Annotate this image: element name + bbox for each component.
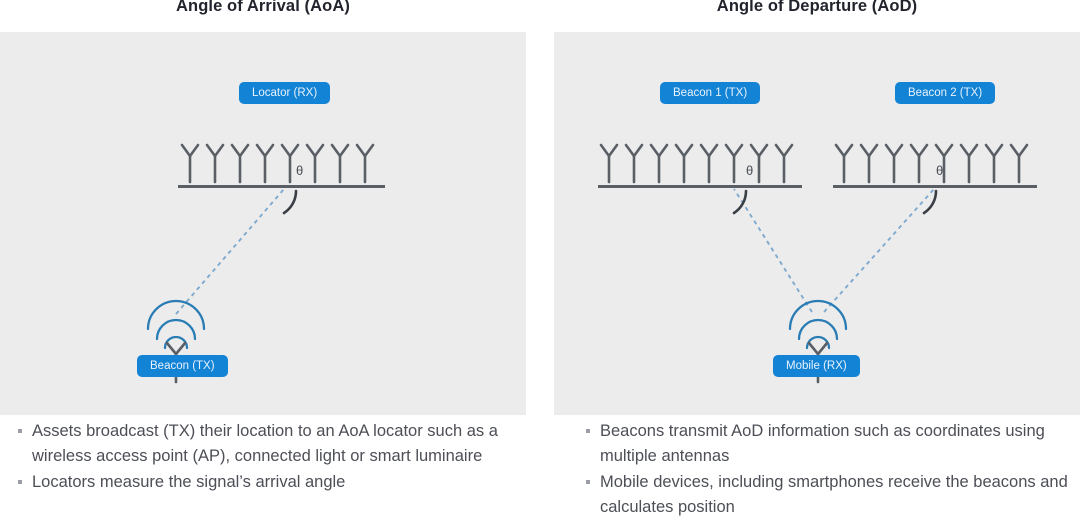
list-item: Beacons transmit AoD information such as…	[582, 419, 1080, 469]
signal-waves-mobile	[790, 301, 846, 348]
signal-rays-aod	[734, 189, 934, 312]
angle-arc-beacon-1	[734, 191, 746, 213]
bullet-marker-icon	[586, 480, 590, 484]
antenna-array-beacon-1	[601, 145, 792, 182]
list-item-text: Assets broadcast (TX) their location to …	[32, 422, 498, 465]
list-item-text: Mobile devices, including smartphones re…	[600, 473, 1068, 516]
panel-title-aod: Angle of Departure (AoD)	[554, 0, 1080, 16]
list-item: Locators measure the signal’s arrival an…	[14, 470, 514, 495]
bullet-marker-icon	[586, 429, 590, 433]
badge-beacon-tx[interactable]: Beacon (TX)	[137, 355, 228, 377]
angle-label-theta-beacon-2: θ	[936, 163, 943, 178]
badge-beacon-2-tx[interactable]: Beacon 2 (TX)	[895, 82, 995, 104]
bullet-list-aod: Beacons transmit AoD information such as…	[554, 419, 1080, 521]
angle-label-theta-beacon-1: θ	[746, 163, 753, 178]
antenna-array-beacon-2	[836, 145, 1027, 182]
comparison-figure: Angle of Arrival (AoA)	[0, 0, 1080, 528]
signal-ray-aoa	[176, 189, 284, 314]
angle-arc-aoa	[284, 191, 296, 213]
list-item: Mobile devices, including smartphones re…	[582, 470, 1080, 520]
list-item-text: Beacons transmit AoD information such as…	[600, 422, 1045, 465]
bullet-marker-icon	[18, 480, 22, 484]
signal-waves-beacon	[148, 301, 204, 348]
bullet-list-aoa: Assets broadcast (TX) their location to …	[0, 419, 526, 496]
diagram-aoa: Locator (RX) θ Beacon (TX)	[0, 32, 526, 415]
badge-beacon-1-tx[interactable]: Beacon 1 (TX)	[660, 82, 760, 104]
bullet-marker-icon	[18, 429, 22, 433]
angle-label-theta-aoa: θ	[296, 163, 303, 178]
list-item: Assets broadcast (TX) their location to …	[14, 419, 514, 469]
badge-mobile-rx[interactable]: Mobile (RX)	[773, 355, 860, 377]
angle-arc-beacon-2	[924, 191, 936, 213]
diagram-aod: Beacon 1 (TX) Beacon 2 (TX) θ θ Mobile (…	[554, 32, 1080, 415]
badge-locator-rx[interactable]: Locator (RX)	[239, 82, 330, 104]
panel-angle-of-arrival: Angle of Arrival (AoA)	[0, 0, 526, 528]
antenna-array-locator	[182, 145, 373, 182]
panel-title-aoa: Angle of Arrival (AoA)	[0, 0, 526, 16]
panel-angle-of-departure: Angle of Departure (AoD)	[554, 0, 1080, 528]
list-item-text: Locators measure the signal’s arrival an…	[32, 473, 345, 491]
